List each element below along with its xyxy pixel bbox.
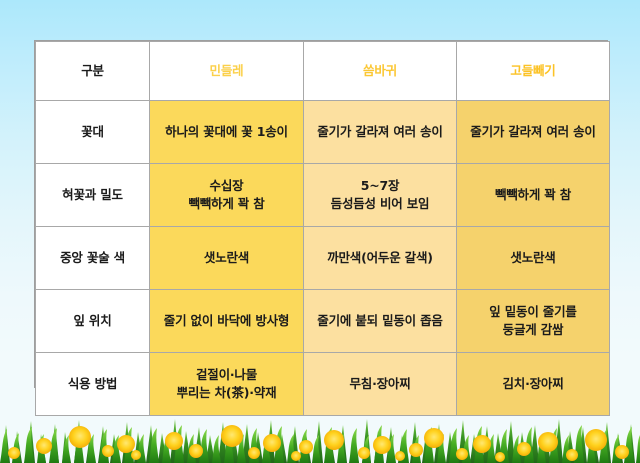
table-row: 꽃대 하나의 꽃대에 꽃 1송이 줄기가 갈라져 여러 송이 줄기가 갈라져 여… bbox=[36, 101, 610, 164]
cell-godeulppaegi: 빽빽하게 꽉 참 bbox=[457, 164, 610, 227]
cell-line: 김치·장아찌 bbox=[461, 375, 605, 393]
grass-illustration bbox=[0, 407, 640, 463]
slide-canvas: 구분 민들레 씀바귀 고들빼기 꽃대 하나의 꽃대에 꽃 1송이 줄기가 갈라져… bbox=[0, 0, 640, 463]
cell-line: 하나의 꽃대에 꽃 1송이 bbox=[154, 123, 299, 141]
header-cell-category: 구분 bbox=[36, 42, 150, 101]
comparison-table: 구분 민들레 씀바귀 고들빼기 꽃대 하나의 꽃대에 꽃 1송이 줄기가 갈라져… bbox=[35, 41, 610, 416]
cell-line: 수십장 bbox=[154, 177, 299, 195]
cell-line: 줄기가 갈라져 여러 송이 bbox=[461, 123, 605, 141]
cell-line: 무침·장아찌 bbox=[308, 375, 452, 393]
cell-line: 줄기 없이 바닥에 방사형 bbox=[154, 312, 299, 330]
comparison-table-container: 구분 민들레 씀바귀 고들빼기 꽃대 하나의 꽃대에 꽃 1송이 줄기가 갈라져… bbox=[34, 40, 608, 388]
cell-line: 듬성듬성 비어 보임 bbox=[308, 195, 452, 213]
grass-border-decoration bbox=[0, 407, 640, 463]
table-header-row: 구분 민들레 씀바귀 고들빼기 bbox=[36, 42, 610, 101]
cell-dandelion: 수십장빽빽하게 꽉 참 bbox=[150, 164, 304, 227]
cell-godeulppaegi: 줄기가 갈라져 여러 송이 bbox=[457, 101, 610, 164]
cell-ssumbagwi: 까만색(어두운 갈색) bbox=[304, 227, 457, 290]
cell-line: 뿌리는 차(茶)·약재 bbox=[154, 384, 299, 402]
cell-line: 줄기에 붙되 밑동이 좁음 bbox=[308, 312, 452, 330]
row-label: 잎 위치 bbox=[36, 290, 150, 353]
cell-ssumbagwi: 줄기가 갈라져 여러 송이 bbox=[304, 101, 457, 164]
row-label: 중앙 꽃술 색 bbox=[36, 227, 150, 290]
header-cell-godeulppaegi: 고들빼기 bbox=[457, 42, 610, 101]
row-label: 꽃대 bbox=[36, 101, 150, 164]
table-row: 혀꽃과 밀도 수십장빽빽하게 꽉 참 5~7장듬성듬성 비어 보임 빽빽하게 꽉… bbox=[36, 164, 610, 227]
header-cell-dandelion: 민들레 bbox=[150, 42, 304, 101]
cell-line: 빽빽하게 꽉 참 bbox=[154, 195, 299, 213]
cell-ssumbagwi: 줄기에 붙되 밑동이 좁음 bbox=[304, 290, 457, 353]
cell-dandelion: 하나의 꽃대에 꽃 1송이 bbox=[150, 101, 304, 164]
header-cell-ssumbagwi: 씀바귀 bbox=[304, 42, 457, 101]
table-row: 중앙 꽃술 색 샛노란색 까만색(어두운 갈색) 샛노란색 bbox=[36, 227, 610, 290]
cell-line: 잎 밑동이 줄기를 bbox=[461, 303, 605, 321]
cell-line: 샛노란색 bbox=[461, 249, 605, 267]
cell-godeulppaegi: 샛노란색 bbox=[457, 227, 610, 290]
cell-ssumbagwi: 5~7장듬성듬성 비어 보임 bbox=[304, 164, 457, 227]
cell-dandelion: 줄기 없이 바닥에 방사형 bbox=[150, 290, 304, 353]
cell-line: 둥글게 감쌈 bbox=[461, 321, 605, 339]
cell-godeulppaegi: 잎 밑동이 줄기를둥글게 감쌈 bbox=[457, 290, 610, 353]
cell-line: 샛노란색 bbox=[154, 249, 299, 267]
cell-line: 줄기가 갈라져 여러 송이 bbox=[308, 123, 452, 141]
cell-line: 겉절이·나물 bbox=[154, 366, 299, 384]
cell-line: 빽빽하게 꽉 참 bbox=[461, 186, 605, 204]
row-label: 혀꽃과 밀도 bbox=[36, 164, 150, 227]
cell-line: 까만색(어두운 갈색) bbox=[308, 249, 452, 267]
table-row: 잎 위치 줄기 없이 바닥에 방사형 줄기에 붙되 밑동이 좁음 잎 밑동이 줄… bbox=[36, 290, 610, 353]
cell-dandelion: 샛노란색 bbox=[150, 227, 304, 290]
cell-line: 5~7장 bbox=[308, 177, 452, 195]
